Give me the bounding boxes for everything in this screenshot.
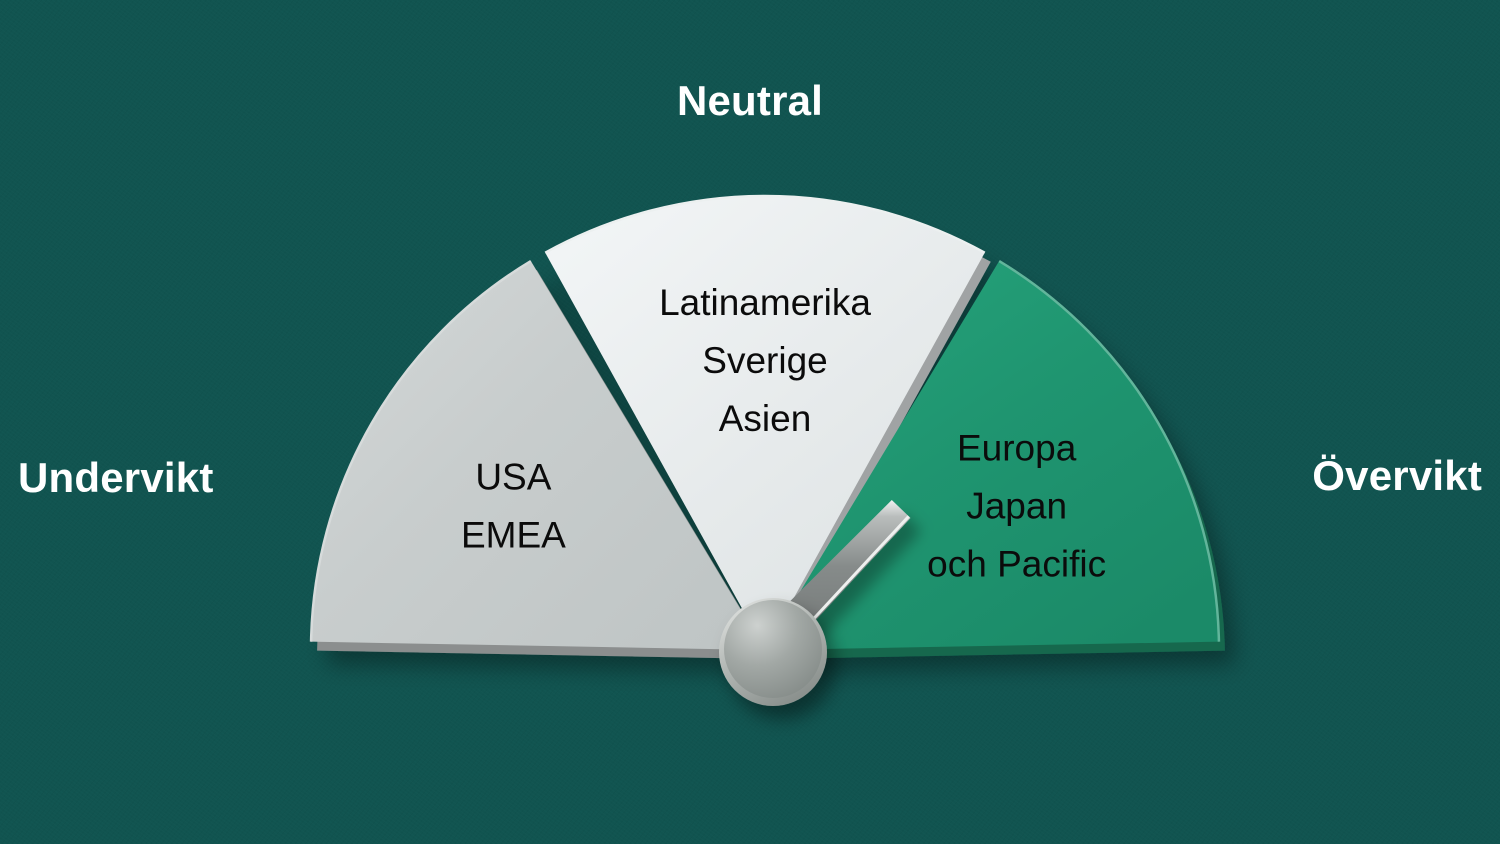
gauge-hub — [719, 598, 827, 706]
gauge-segment-label-line: Latinamerika — [659, 282, 871, 323]
gauge-segment-label-line: USA — [475, 457, 551, 498]
gauge-scene: Undervikt Neutral Övervikt — [0, 0, 1500, 844]
hub-cap[interactable] — [724, 600, 822, 698]
gauge-chart: USAEMEALatinamerikaSverigeAsienEuropaJap… — [0, 0, 1500, 844]
gauge-segment-label-line: Asien — [719, 398, 812, 439]
gauge-segment-label-line: Europa — [957, 428, 1077, 469]
gauge-segment-label-line: Japan — [966, 486, 1067, 527]
gauge-segment-label-line: och Pacific — [927, 544, 1106, 585]
gauge-segment-label-line: EMEA — [461, 515, 566, 556]
gauge-segment-label-line: Sverige — [702, 340, 827, 381]
